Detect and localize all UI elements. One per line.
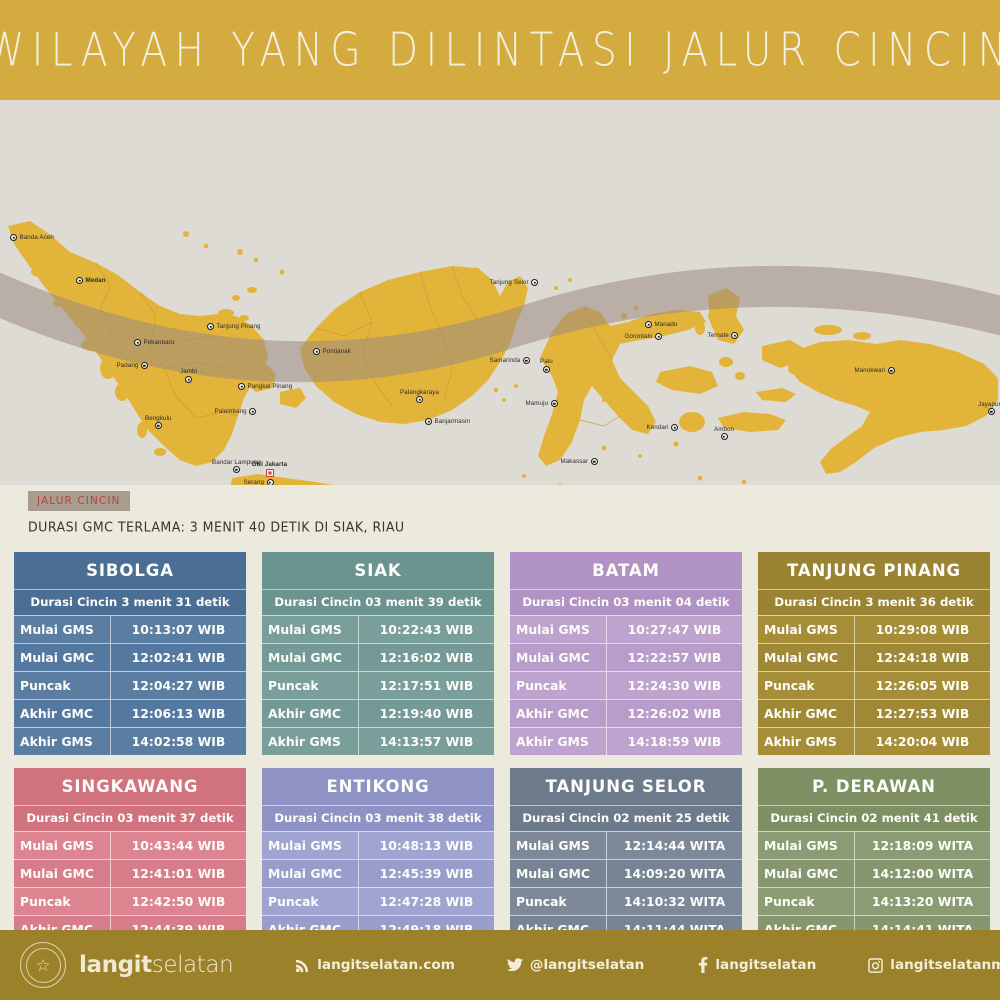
footer-bar: ☆ langitselatan langitselatan.com @langi… <box>0 930 1000 1000</box>
footer-link-facebook[interactable]: langitselatan <box>698 957 816 973</box>
row-value: 10:27:47 WIB <box>606 616 742 643</box>
row-value: 12:27:53 WIB <box>854 700 990 727</box>
row-label: Mulai GMS <box>510 832 606 859</box>
city-dot-icon <box>655 333 662 340</box>
row-label: Puncak <box>510 888 606 915</box>
city-mamuju: Mamuju <box>523 400 558 407</box>
row-label: Akhir GMS <box>758 728 854 755</box>
city-dot-icon <box>591 458 598 465</box>
instagram-icon <box>868 958 883 973</box>
city-dot-icon <box>76 277 83 284</box>
row-label: Puncak <box>14 672 110 699</box>
card-subtitle: Durasi Cincin 03 menit 04 detik <box>510 589 742 615</box>
row-label: Mulai GMC <box>14 644 110 671</box>
row-value: 14:10:32 WITA <box>606 888 742 915</box>
city-dot-icon <box>233 466 240 473</box>
row-value: 12:24:18 WIB <box>854 644 990 671</box>
city-banjarmasin: Banjarmasin <box>425 418 473 425</box>
row-label: Mulai GMC <box>262 860 358 887</box>
card-row: Mulai GMS10:22:43 WIB <box>262 615 494 643</box>
card-title: ENTIKONG <box>262 768 494 805</box>
row-value: 10:29:08 WIB <box>854 616 990 643</box>
row-label: Akhir GMC <box>510 700 606 727</box>
card-title: BATAM <box>510 552 742 589</box>
row-label: Akhir GMC <box>758 700 854 727</box>
city-ambon: Ambon <box>714 425 734 440</box>
row-label: Mulai GMC <box>510 644 606 671</box>
card-row: Akhir GMC12:19:40 WIB <box>262 699 494 727</box>
brand-bold: langit <box>79 952 152 978</box>
city-samarinda: Samarinda <box>487 357 530 364</box>
duration-note: DURASI GMC TERLAMA: 3 MENIT 40 DETIK DI … <box>28 519 1000 535</box>
footer-link-instagram[interactable]: langitselatanmedia <box>868 957 1000 973</box>
card-row: Mulai GMC12:45:39 WIB <box>262 859 494 887</box>
city-ternate: Ternate <box>705 332 738 339</box>
card-row: Puncak12:47:28 WIB <box>262 887 494 915</box>
city-banda-aceh: Banda Aceh <box>10 234 56 241</box>
row-value: 10:48:13 WIB <box>358 832 494 859</box>
row-label: Akhir GMC <box>262 700 358 727</box>
city-dot-icon <box>671 424 678 431</box>
row-label: Mulai GMS <box>262 616 358 643</box>
row-value: 12:02:41 WIB <box>110 644 246 671</box>
card-row: Puncak12:42:50 WIB <box>14 887 246 915</box>
card-row: Puncak14:13:20 WITA <box>758 887 990 915</box>
card-row: Mulai GMS10:13:07 WIB <box>14 615 246 643</box>
city-card-siak: SIAKDurasi Cincin 03 menit 39 detikMulai… <box>262 552 494 755</box>
footer-link-label: langitselatan <box>715 957 816 973</box>
header-banner: WILAYAH YANG DILINTASI JALUR CINCIN <box>0 0 1000 100</box>
city-card-tanjung-pinang: TANJUNG PINANGDurasi Cincin 3 menit 36 d… <box>758 552 990 755</box>
row-value: 10:43:44 WIB <box>110 832 246 859</box>
card-row: Akhir GMS14:02:58 WIB <box>14 727 246 755</box>
city-dot-icon <box>888 367 895 374</box>
card-row: Mulai GMS10:48:13 WIB <box>262 831 494 859</box>
row-label: Mulai GMC <box>262 644 358 671</box>
city-dot-icon <box>249 408 256 415</box>
row-value: 14:18:59 WIB <box>606 728 742 755</box>
city-kendari: Kendari <box>644 424 678 431</box>
row-value: 12:06:13 WIB <box>110 700 246 727</box>
card-title: P. DERAWAN <box>758 768 990 805</box>
row-value: 12:16:02 WIB <box>358 644 494 671</box>
row-label: Mulai GMC <box>14 860 110 887</box>
langitselatan-seal-icon: ☆ <box>20 942 66 988</box>
row-label: Mulai GMS <box>510 616 606 643</box>
row-value: 12:19:40 WIB <box>358 700 494 727</box>
card-title: TANJUNG SELOR <box>510 768 742 805</box>
city-card-sibolga: SIBOLGADurasi Cincin 3 menit 31 detikMul… <box>14 552 246 755</box>
city-padang: Padang <box>114 362 148 369</box>
city-dki-jakarta: DKI Jakarta <box>252 461 287 477</box>
card-row: Mulai GMC14:09:20 WITA <box>510 859 742 887</box>
row-value: 12:18:09 WITA <box>854 832 990 859</box>
card-subtitle: Durasi Cincin 02 menit 41 detik <box>758 805 990 831</box>
card-row: Mulai GMS10:29:08 WIB <box>758 615 990 643</box>
row-label: Akhir GMS <box>510 728 606 755</box>
row-value: 14:20:04 WIB <box>854 728 990 755</box>
city-pontianak: Pontianak <box>313 348 353 355</box>
row-label: Mulai GMS <box>758 616 854 643</box>
card-title: SINGKAWANG <box>14 768 246 805</box>
card-row: Mulai GMS10:27:47 WIB <box>510 615 742 643</box>
card-row: Mulai GMC12:02:41 WIB <box>14 643 246 671</box>
card-row: Akhir GMC12:27:53 WIB <box>758 699 990 727</box>
row-label: Puncak <box>14 888 110 915</box>
card-row: Mulai GMC12:16:02 WIB <box>262 643 494 671</box>
card-row: Mulai GMC12:22:57 WIB <box>510 643 742 671</box>
row-value: 12:42:50 WIB <box>110 888 246 915</box>
city-palembang: Palembang <box>212 408 256 415</box>
card-title: SIAK <box>262 552 494 589</box>
card-row: Puncak12:17:51 WIB <box>262 671 494 699</box>
city-palangkaraya: Palangkaraya <box>400 388 439 403</box>
city-card-batam: BATAMDurasi Cincin 03 menit 04 detikMula… <box>510 552 742 755</box>
page-title: WILAYAH YANG DILINTASI JALUR CINCIN <box>0 23 1000 76</box>
row-value: 14:09:20 WITA <box>606 860 742 887</box>
row-value: 14:02:58 WIB <box>110 728 246 755</box>
city-makassar: Makassar <box>558 458 598 465</box>
footer-link-label: langitselatanmedia <box>890 957 1000 973</box>
row-label: Puncak <box>262 888 358 915</box>
infographic-page: WILAYAH YANG DILINTASI JALUR CINCIN <box>0 0 1000 1000</box>
row-label: Mulai GMC <box>510 860 606 887</box>
city-dot-icon <box>988 408 995 415</box>
indonesia-map: Banda Aceh Medan Tanjung Pinang Pekanbar… <box>0 100 1000 485</box>
card-row: Akhir GMS14:20:04 WIB <box>758 727 990 755</box>
row-label: Mulai GMS <box>14 616 110 643</box>
rss-icon <box>295 958 310 973</box>
row-value: 12:17:51 WIB <box>358 672 494 699</box>
card-subtitle: Durasi Cincin 3 menit 36 detik <box>758 589 990 615</box>
row-value: 12:26:02 WIB <box>606 700 742 727</box>
city-dot-icon <box>645 321 652 328</box>
row-label: Mulai GMS <box>758 832 854 859</box>
row-value: 14:12:00 WITA <box>854 860 990 887</box>
city-tanjung-pinang: Tanjung Pinang <box>207 323 263 330</box>
city-dot-icon <box>416 396 423 403</box>
row-label: Akhir GMS <box>14 728 110 755</box>
city-dot-icon <box>141 362 148 369</box>
city-dot-icon <box>523 357 530 364</box>
card-row: Mulai GMC12:24:18 WIB <box>758 643 990 671</box>
card-row: Akhir GMS14:18:59 WIB <box>510 727 742 755</box>
brand-wordmark: langitselatan <box>79 952 233 978</box>
row-label: Mulai GMS <box>262 832 358 859</box>
row-value: 10:13:07 WIB <box>110 616 246 643</box>
row-value: 12:24:30 WIB <box>606 672 742 699</box>
card-row: Mulai GMC12:41:01 WIB <box>14 859 246 887</box>
city-pangkal-pinang: Pangkal Pinang <box>238 383 295 390</box>
card-subtitle: Durasi Cincin 02 menit 25 detik <box>510 805 742 831</box>
row-label: Mulai GMS <box>14 832 110 859</box>
card-row: Akhir GMC12:26:02 WIB <box>510 699 742 727</box>
card-title: TANJUNG PINANG <box>758 552 990 589</box>
brand-light: selatan <box>152 952 234 978</box>
card-row: Puncak12:26:05 WIB <box>758 671 990 699</box>
card-row: Puncak12:24:30 WIB <box>510 671 742 699</box>
city-dot-icon <box>721 433 728 440</box>
city-bengkulu: Bengkulu <box>145 414 172 429</box>
row-label: Mulai GMC <box>758 644 854 671</box>
city-dot-icon <box>134 339 141 346</box>
footer-link-label: @langitselatan <box>530 957 645 973</box>
card-subtitle: Durasi Cincin 03 menit 38 detik <box>262 805 494 831</box>
footer-link-label: langitselatan.com <box>317 957 455 973</box>
row-value: 10:22:43 WIB <box>358 616 494 643</box>
city-dot-icon <box>731 332 738 339</box>
twitter-icon <box>507 958 523 972</box>
row-value: 12:41:01 WIB <box>110 860 246 887</box>
city-pekanbaru: Pekanbaru <box>134 339 177 346</box>
legend-jalur-cincin: JALUR CINCIN <box>28 491 130 511</box>
row-value: 12:14:44 WITA <box>606 832 742 859</box>
row-label: Puncak <box>510 672 606 699</box>
seal-inner-icon: ☆ <box>26 948 61 983</box>
card-row: Mulai GMC14:12:00 WITA <box>758 859 990 887</box>
footer-link-twitter[interactable]: @langitselatan <box>507 957 645 973</box>
card-subtitle: Durasi Cincin 3 menit 31 detik <box>14 589 246 615</box>
card-title: SIBOLGA <box>14 552 246 589</box>
card-row: Mulai GMS10:43:44 WIB <box>14 831 246 859</box>
row-label: Puncak <box>758 672 854 699</box>
card-row: Mulai GMS12:14:44 WITA <box>510 831 742 859</box>
city-jayapura: Jayapura <box>978 400 1000 415</box>
facebook-icon <box>698 957 708 973</box>
card-row: Akhir GMC12:06:13 WIB <box>14 699 246 727</box>
city-dot-icon <box>207 323 214 330</box>
row-label: Akhir GMS <box>262 728 358 755</box>
city-medan: Medan <box>76 277 108 284</box>
city-dot-icon <box>551 400 558 407</box>
city-jambi: Jambi <box>180 368 197 383</box>
card-row: Akhir GMS14:13:57 WIB <box>262 727 494 755</box>
city-dot-icon <box>155 422 162 429</box>
footer-link-website[interactable]: langitselatan.com <box>295 957 455 973</box>
capital-marker-icon <box>266 469 274 477</box>
city-dot-icon <box>425 418 432 425</box>
row-value: 14:13:20 WITA <box>854 888 990 915</box>
city-gorontalo: Gorontalo <box>622 333 662 340</box>
city-palu: Palu <box>540 358 553 373</box>
city-dot-icon <box>313 348 320 355</box>
row-value: 12:47:28 WIB <box>358 888 494 915</box>
city-manado: Manado <box>645 321 680 328</box>
card-row: Mulai GMS12:18:09 WITA <box>758 831 990 859</box>
city-manokwari: Manokwari <box>852 367 895 374</box>
card-row: Puncak12:04:27 WIB <box>14 671 246 699</box>
city-dot-icon <box>531 279 538 286</box>
city-dot-icon <box>238 383 245 390</box>
city-dot-icon <box>185 376 192 383</box>
row-value: 12:45:39 WIB <box>358 860 494 887</box>
city-timing-grid: SIBOLGADurasi Cincin 3 menit 31 detikMul… <box>0 548 1000 971</box>
card-row: Puncak14:10:32 WITA <box>510 887 742 915</box>
card-subtitle: Durasi Cincin 03 menit 39 detik <box>262 589 494 615</box>
city-tanjung-selor: Tanjung Selor <box>487 279 538 286</box>
map-legend-zone: JALUR CINCIN DURASI GMC TERLAMA: 3 MENIT… <box>0 485 1000 548</box>
row-label: Akhir GMC <box>14 700 110 727</box>
row-label: Puncak <box>758 888 854 915</box>
row-label: Puncak <box>262 672 358 699</box>
city-dot-icon <box>10 234 17 241</box>
row-value: 14:13:57 WIB <box>358 728 494 755</box>
card-subtitle: Durasi Cincin 03 menit 37 detik <box>14 805 246 831</box>
row-value: 12:22:57 WIB <box>606 644 742 671</box>
city-dot-icon <box>543 366 550 373</box>
row-value: 12:04:27 WIB <box>110 672 246 699</box>
row-label: Mulai GMC <box>758 860 854 887</box>
row-value: 12:26:05 WIB <box>854 672 990 699</box>
